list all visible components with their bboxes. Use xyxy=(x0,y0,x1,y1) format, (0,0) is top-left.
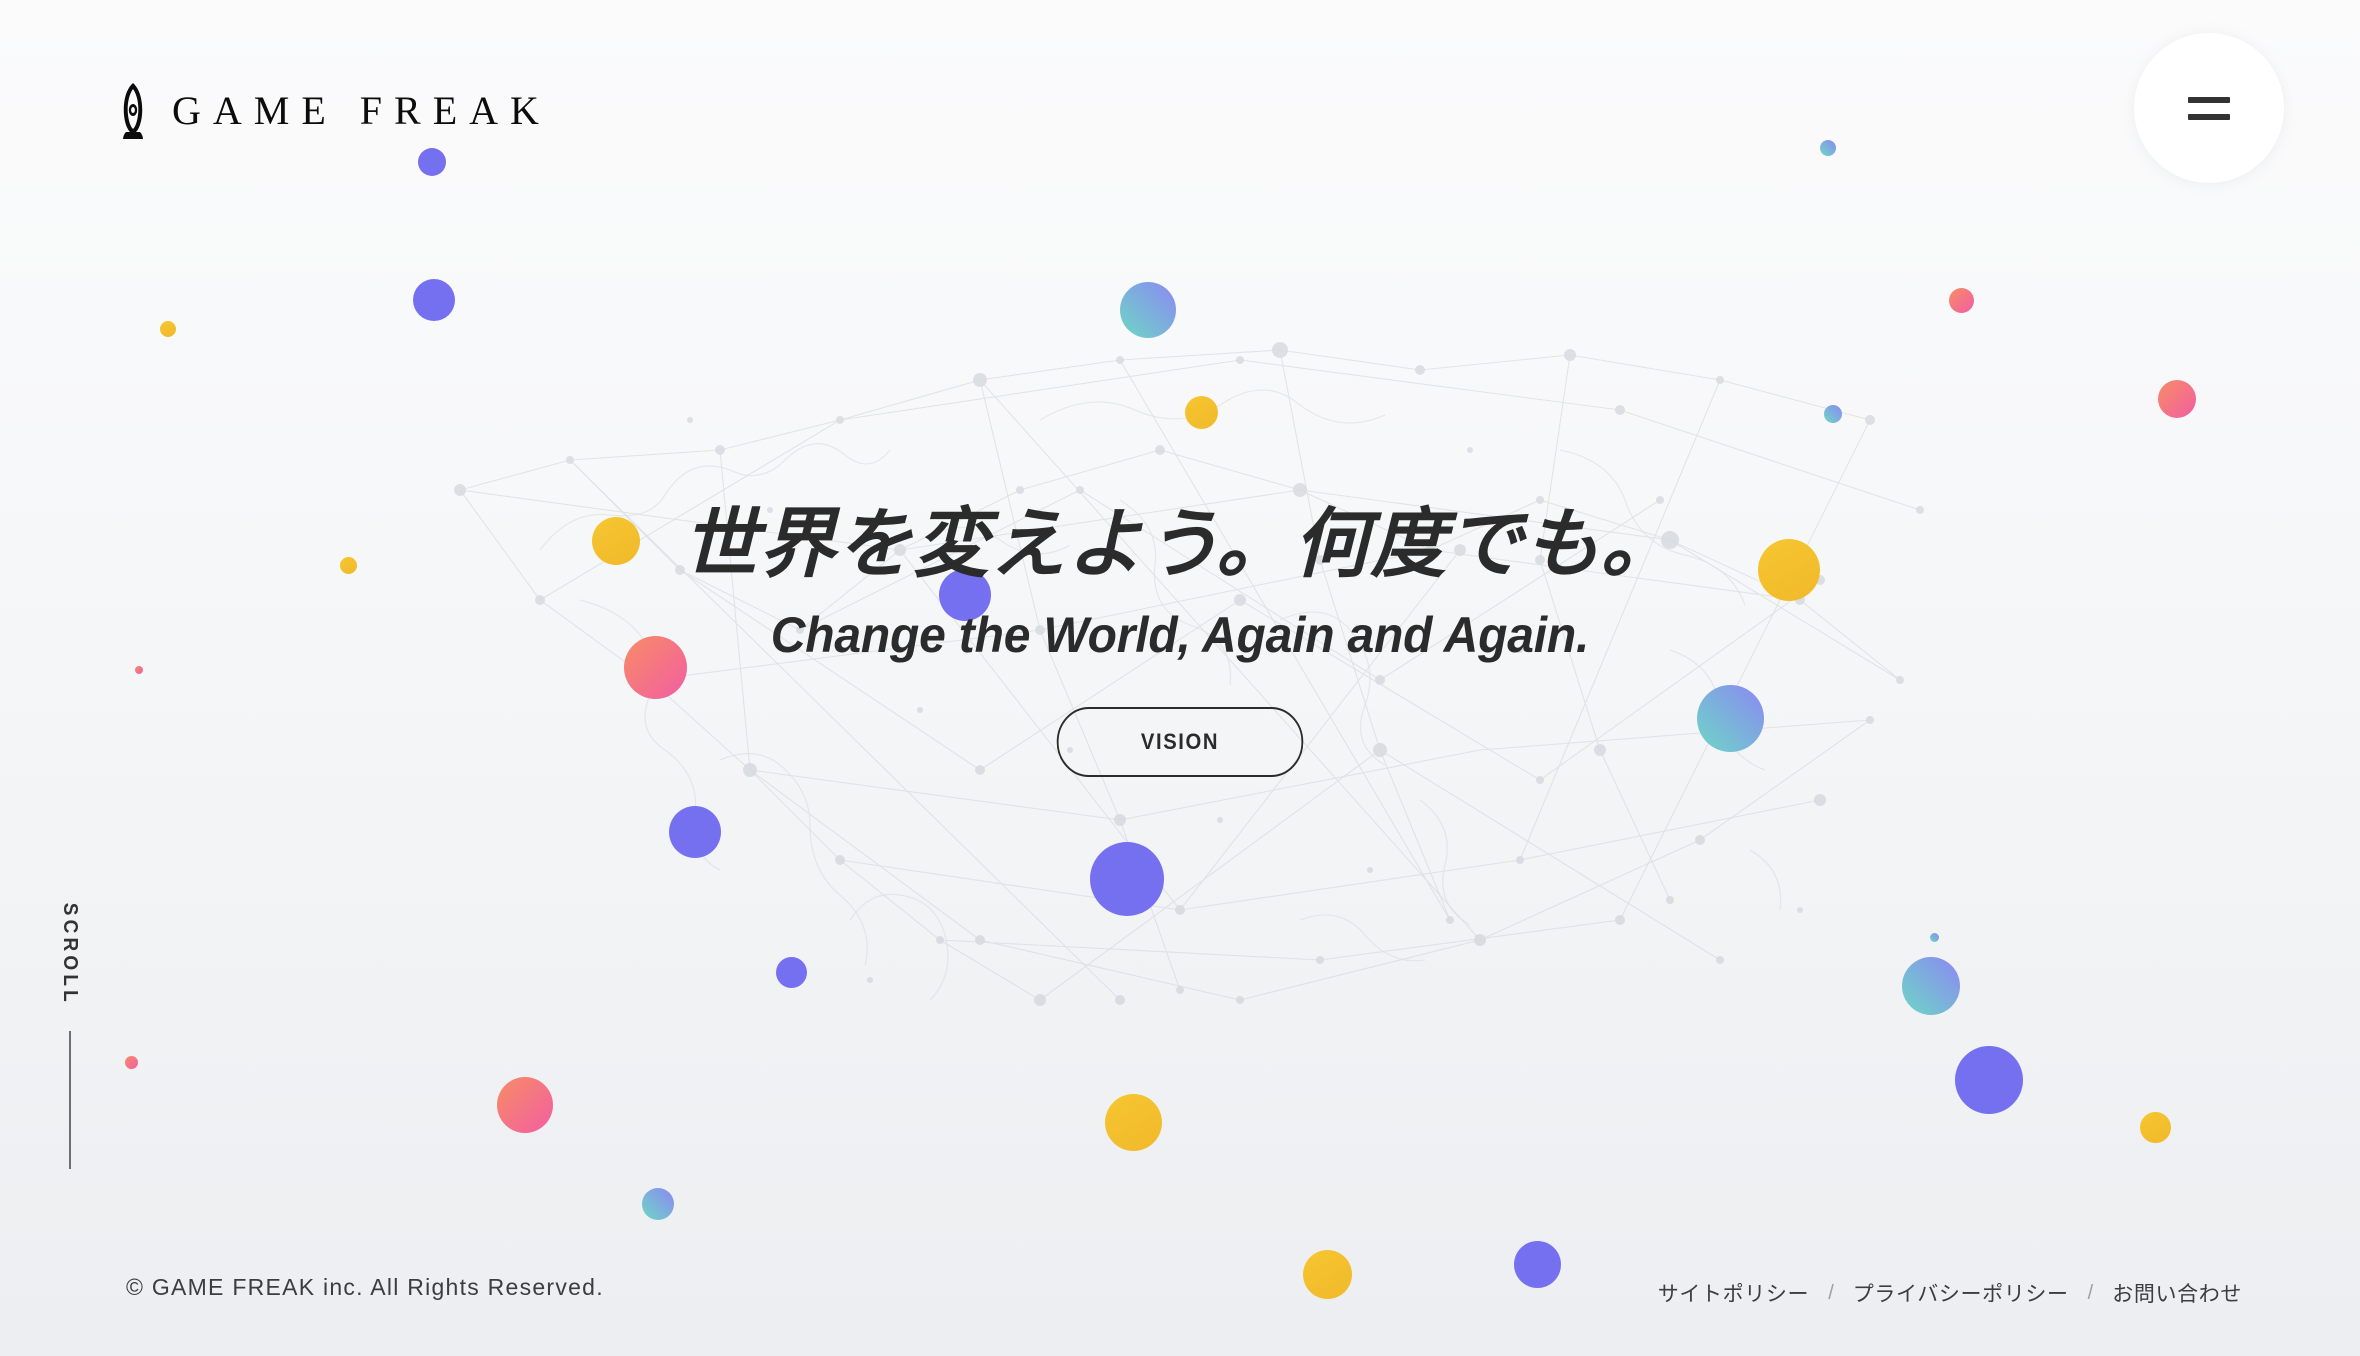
floating-dot xyxy=(669,806,721,858)
floating-dot xyxy=(497,1077,553,1133)
floating-dot xyxy=(160,321,176,337)
floating-dot xyxy=(1090,842,1164,916)
footer-separator: / xyxy=(2088,1282,2094,1305)
floating-dot xyxy=(642,1188,674,1220)
floating-dot xyxy=(1120,282,1176,338)
floating-dot xyxy=(1902,957,1960,1015)
page-footer: © GAME FREAK inc. All Rights Reserved. サ… xyxy=(0,1236,2360,1356)
scroll-label: SCROLL xyxy=(58,903,81,1006)
hamburger-icon-bar-top xyxy=(2188,97,2230,103)
footer-link-3[interactable]: お問い合わせ xyxy=(2112,1278,2242,1308)
floating-dot xyxy=(413,279,455,321)
floating-dot xyxy=(1930,933,1939,942)
floating-dot xyxy=(2140,1112,2171,1143)
floating-dot xyxy=(125,1056,138,1069)
hamburger-menu-button[interactable] xyxy=(2134,33,2284,183)
hamburger-icon-bar-bottom xyxy=(2188,114,2230,120)
vision-button[interactable]: VISION xyxy=(1057,707,1304,777)
floating-dot xyxy=(776,957,807,988)
floating-dot xyxy=(1820,140,1836,156)
logo-wordmark: GAME FREAK xyxy=(172,91,551,131)
hero-heading-japanese: 世界を変えよう。何度でも。 xyxy=(0,504,2360,586)
scroll-line xyxy=(69,1031,71,1169)
footer-links: サイトポリシー/プライバシーポリシー/お問い合わせ xyxy=(1658,1278,2242,1308)
hero-section: 世界を変えよう。何度でも。 Change the World, Again an… xyxy=(0,504,2360,777)
floating-dot xyxy=(1955,1046,2023,1114)
copyright-text: © GAME FREAK inc. All Rights Reserved. xyxy=(126,1274,604,1301)
game-freak-eye-logo-icon xyxy=(120,82,146,140)
footer-link-1[interactable]: サイトポリシー xyxy=(1658,1278,1809,1308)
floating-dot xyxy=(2158,380,2196,418)
floating-dot xyxy=(1949,288,1974,313)
floating-dot xyxy=(1824,405,1842,423)
floating-dot xyxy=(418,148,446,176)
scroll-indicator[interactable]: SCROLL xyxy=(58,900,81,1169)
hero-heading-english: Change the World, Again and Again. xyxy=(47,608,2313,663)
floating-dot xyxy=(1105,1094,1162,1151)
footer-separator: / xyxy=(1828,1282,1834,1305)
floating-dot xyxy=(1185,396,1218,429)
footer-link-2[interactable]: プライバシーポリシー xyxy=(1853,1278,2069,1308)
site-logo[interactable]: GAME FREAK xyxy=(120,82,551,140)
